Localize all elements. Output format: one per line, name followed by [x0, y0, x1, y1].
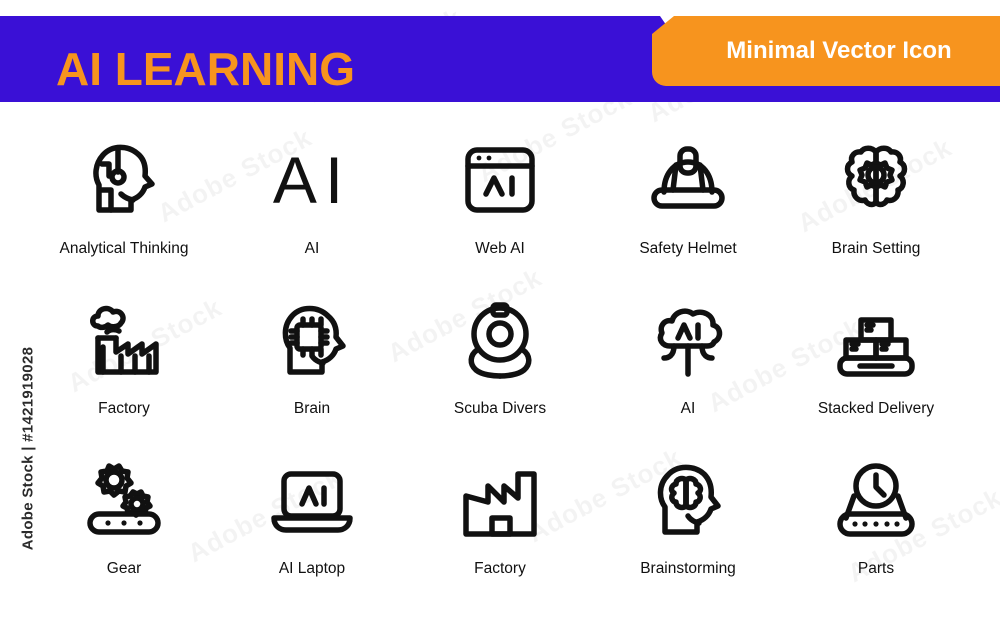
- head-brain-icon: [640, 446, 736, 554]
- poster-canvas: Adobe StockAdobe StockAdobe StockAdobe S…: [0, 0, 1000, 625]
- helmet-icon: [640, 126, 736, 234]
- head-chip-icon: [264, 286, 360, 394]
- ai-letters-icon: AI: [273, 126, 351, 234]
- icon-label: Brain: [294, 400, 330, 417]
- clock-belt-icon: [828, 446, 924, 554]
- factory-plain-icon: [452, 446, 548, 554]
- icon-label: Brainstorming: [640, 560, 736, 577]
- icon-label: Gear: [107, 560, 141, 577]
- boxes-stack-icon: [828, 286, 924, 394]
- icon-cell-factory[interactable]: Factory: [30, 286, 218, 446]
- icon-label: Brain Setting: [832, 240, 921, 257]
- icon-label: Web AI: [475, 240, 525, 257]
- badge-background: Minimal Vector Icon: [652, 16, 1000, 86]
- icon-cell-scuba-divers[interactable]: Scuba Divers: [406, 286, 594, 446]
- icon-label: AI Laptop: [279, 560, 345, 577]
- icon-cell-ai-cloud[interactable]: AI: [594, 286, 782, 446]
- icon-cell-stacked-delivery[interactable]: Stacked Delivery: [782, 286, 970, 446]
- icon-cell-brainstorming[interactable]: Brainstorming: [594, 446, 782, 606]
- icon-cell-ai[interactable]: AIAI: [218, 126, 406, 286]
- icon-label: Parts: [858, 560, 894, 577]
- icon-label: Scuba Divers: [454, 400, 546, 417]
- icon-label: Safety Helmet: [639, 240, 736, 257]
- icon-cell-gear[interactable]: Gear: [30, 446, 218, 606]
- icon-label: Factory: [474, 560, 526, 577]
- page-title: AI LEARNING: [56, 46, 355, 92]
- header-banner: Minimal Vector Icon AI LEARNING: [0, 16, 1000, 102]
- factory-smoke-icon: [76, 286, 172, 394]
- cloud-tree-ai-icon: [640, 286, 736, 394]
- brain-gear-icon: [828, 126, 924, 234]
- icon-cell-parts[interactable]: Parts: [782, 446, 970, 606]
- browser-ai-icon: [452, 126, 548, 234]
- laptop-ai-icon: [264, 446, 360, 554]
- icon-cell-web-ai[interactable]: Web AI: [406, 126, 594, 286]
- icon-label: Analytical Thinking: [60, 240, 189, 257]
- icon-cell-brain-setting[interactable]: Brain Setting: [782, 126, 970, 286]
- icon-grid: Analytical ThinkingAIAI Web AI Safety He…: [30, 126, 970, 606]
- head-circuit-icon: [76, 126, 172, 234]
- icon-cell-factory-2[interactable]: Factory: [406, 446, 594, 606]
- icon-cell-ai-laptop[interactable]: AI Laptop: [218, 446, 406, 606]
- icon-label: AI: [681, 400, 696, 417]
- icon-cell-brain[interactable]: Brain: [218, 286, 406, 446]
- icon-cell-analytical-thinking[interactable]: Analytical Thinking: [30, 126, 218, 286]
- icon-label: Factory: [98, 400, 150, 417]
- gears-belt-icon: [76, 446, 172, 554]
- scuba-tank-icon: [452, 286, 548, 394]
- ai-letters-icon: AI: [273, 147, 351, 213]
- icon-label: AI: [305, 240, 320, 257]
- icon-cell-safety-helmet[interactable]: Safety Helmet: [594, 126, 782, 286]
- icon-label: Stacked Delivery: [818, 400, 934, 417]
- badge-label: Minimal Vector Icon: [652, 16, 1000, 86]
